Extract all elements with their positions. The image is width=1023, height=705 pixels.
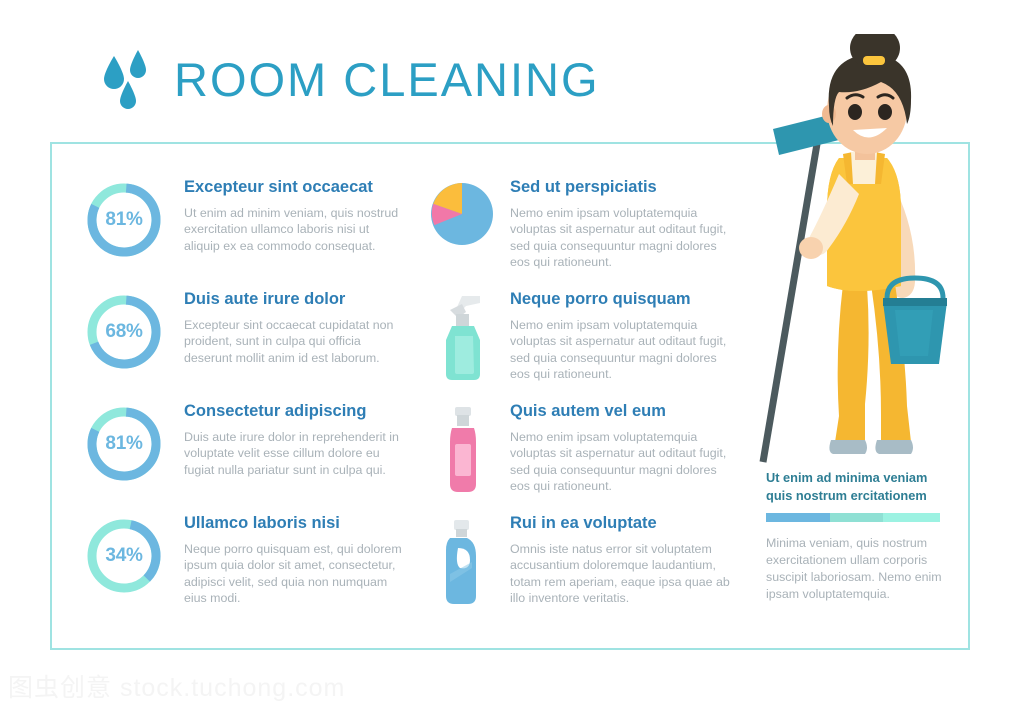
list-item: 34% Ullamco laboris nisi Neque porro qui… (84, 514, 404, 626)
list-item-body: Quis autem vel eum Nemo enim ipsam volup… (510, 402, 738, 495)
list-item-text: Ut enim ad minim veniam, quis nostrud ex… (184, 205, 402, 255)
list-item-text: Nemo enim ipsam voluptatemquia voluptas … (510, 317, 738, 383)
watermark: 图虫创意 stock.tuchong.com (8, 668, 345, 704)
list-item-title: Rui in ea voluptate (510, 514, 738, 534)
spray-bottle-icon (428, 292, 498, 389)
list-item: 68% Duis aute irure dolor Excepteur sint… (84, 290, 404, 402)
list-item-title: Neque porro quisquam (510, 290, 738, 310)
list-item-body: Ullamco laboris nisi Neque porro quisqua… (184, 514, 402, 607)
list-item-body: Rui in ea voluptate Omnis iste natus err… (510, 514, 738, 607)
sidebar-text: Minima veniam, quis nostrum exercitation… (766, 535, 942, 602)
list-item-title: Excepteur sint occaecat (184, 178, 402, 198)
list-item-text: Nemo enim ipsam voluptatemquia voluptas … (510, 205, 738, 271)
list-item-title: Duis aute irure dolor (184, 290, 402, 310)
pink-bottle-icon (428, 404, 498, 501)
list-item-title: Consectetur adipiscing (184, 402, 402, 422)
donut-chart-icon: 34% (84, 516, 164, 596)
list-item: 81% Excepteur sint occaecat Ut enim ad m… (84, 178, 404, 290)
list-item-body: Consectetur adipiscing Duis aute irure d… (184, 402, 402, 478)
donut-chart-icon: 81% (84, 404, 164, 484)
list-item-text: Nemo enim ipsam voluptatemquia voluptas … (510, 429, 738, 495)
list-item-title: Ullamco laboris nisi (184, 514, 402, 534)
cleaning-woman-illustration (735, 34, 970, 464)
list-item-text: Omnis iste natus error sit voluptatem ac… (510, 541, 738, 607)
donut-percent-label: 34% (84, 516, 164, 596)
middle-column: Sed ut perspiciatis Nemo enim ipsam volu… (428, 178, 738, 626)
donut-chart-icon: 81% (84, 180, 164, 260)
list-item: Quis autem vel eum Nemo enim ipsam volup… (428, 402, 738, 514)
list-item-text: Excepteur sint occaecat cupidatat non pr… (184, 317, 402, 367)
list-item-body: Excepteur sint occaecat Ut enim ad minim… (184, 178, 402, 254)
list-item-title: Quis autem vel eum (510, 402, 738, 422)
water-drops-icon (100, 48, 152, 110)
donut-percent-label: 81% (84, 180, 164, 260)
infographic-canvas: ROOM CLEANING 81% Excepteur sint occaeca… (0, 0, 1023, 705)
left-column: 81% Excepteur sint occaecat Ut enim ad m… (84, 178, 404, 626)
list-item-title: Sed ut perspiciatis (510, 178, 738, 198)
progress-segment-3 (883, 513, 940, 522)
detergent-bottle-icon (428, 516, 498, 613)
progress-segment-1 (766, 513, 830, 522)
pie-chart-icon (428, 180, 496, 253)
progress-segment-2 (830, 513, 882, 522)
list-item-text: Neque porro quisquam est, qui dolorem ip… (184, 541, 402, 607)
donut-percent-label: 81% (84, 404, 164, 484)
list-item-body: Sed ut perspiciatis Nemo enim ipsam volu… (510, 178, 738, 271)
list-item: 81% Consectetur adipiscing Duis aute iru… (84, 402, 404, 514)
list-item-text: Duis aute irure dolor in reprehenderit i… (184, 429, 402, 479)
donut-chart-icon: 68% (84, 292, 164, 372)
progress-bar (766, 513, 940, 522)
donut-percent-label: 68% (84, 292, 164, 372)
list-item-body: Neque porro quisquam Nemo enim ipsam vol… (510, 290, 738, 383)
list-item: Sed ut perspiciatis Nemo enim ipsam volu… (428, 178, 738, 290)
list-item: Rui in ea voluptate Omnis iste natus err… (428, 514, 738, 626)
header: ROOM CLEANING (100, 48, 600, 110)
page-title: ROOM CLEANING (174, 56, 600, 103)
list-item-body: Duis aute irure dolor Excepteur sint occ… (184, 290, 402, 366)
list-item: Neque porro quisquam Nemo enim ipsam vol… (428, 290, 738, 402)
sidebar-title: Ut enim ad minima veniam quis nostrum er… (766, 469, 946, 504)
